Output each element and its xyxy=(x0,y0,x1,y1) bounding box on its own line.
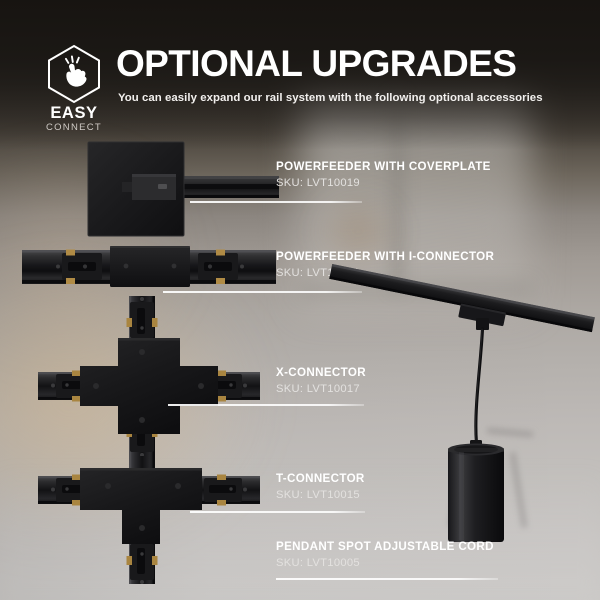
product-divider xyxy=(190,201,362,203)
product-name: T-CONNECTOR xyxy=(276,472,365,485)
header: EASY CONNECT OPTIONAL UPGRADES You can e… xyxy=(0,0,600,130)
snap-fingers-hexagon-icon xyxy=(45,44,103,104)
product-name: PENDANT SPOT ADJUSTABLE CORD xyxy=(276,540,494,553)
product-text-t-connector: T-CONNECTOR SKU: LVT10015 xyxy=(276,472,365,502)
product-image-x-connector xyxy=(38,296,260,463)
product-divider xyxy=(163,291,362,293)
product-text-x-connector: X-CONNECTOR SKU: LVT10017 xyxy=(276,366,366,396)
product-image-t-connector xyxy=(38,456,260,589)
product-text-pendant-spot-cord: PENDANT SPOT ADJUSTABLE CORD SKU: LVT100… xyxy=(276,540,494,570)
easy-connect-logo: EASY CONNECT xyxy=(40,44,108,133)
product-image-pendant-spot-cord xyxy=(398,272,600,545)
product-sku: SKU: LVT10017 xyxy=(276,383,366,396)
logo-text-easy: EASY xyxy=(40,105,108,122)
product-name: POWERFEEDER WITH I-CONNECTOR xyxy=(276,250,494,263)
page-title: OPTIONAL UPGRADES xyxy=(116,45,516,82)
product-sku: SKU: LVT10005 xyxy=(276,557,494,570)
infographic-canvas: EASY CONNECT OPTIONAL UPGRADES You can e… xyxy=(0,0,600,600)
product-sku: SKU: LVT10019 xyxy=(276,177,491,190)
product-image-powerfeeder-coverplate xyxy=(72,138,282,247)
product-divider xyxy=(168,404,364,406)
product-text-powerfeeder-coverplate: POWERFEEDER WITH COVERPLATE SKU: LVT1001… xyxy=(276,160,491,190)
product-sku: SKU: LVT10015 xyxy=(276,489,365,502)
logo-text-connect: CONNECT xyxy=(40,123,108,133)
product-name: X-CONNECTOR xyxy=(276,366,366,379)
product-name: POWERFEEDER WITH COVERPLATE xyxy=(276,160,491,173)
product-divider xyxy=(276,578,498,580)
product-divider xyxy=(190,511,365,513)
page-subtitle: You can easily expand our rail system wi… xyxy=(118,92,543,106)
product-image-powerfeeder-i-connector xyxy=(22,243,276,296)
